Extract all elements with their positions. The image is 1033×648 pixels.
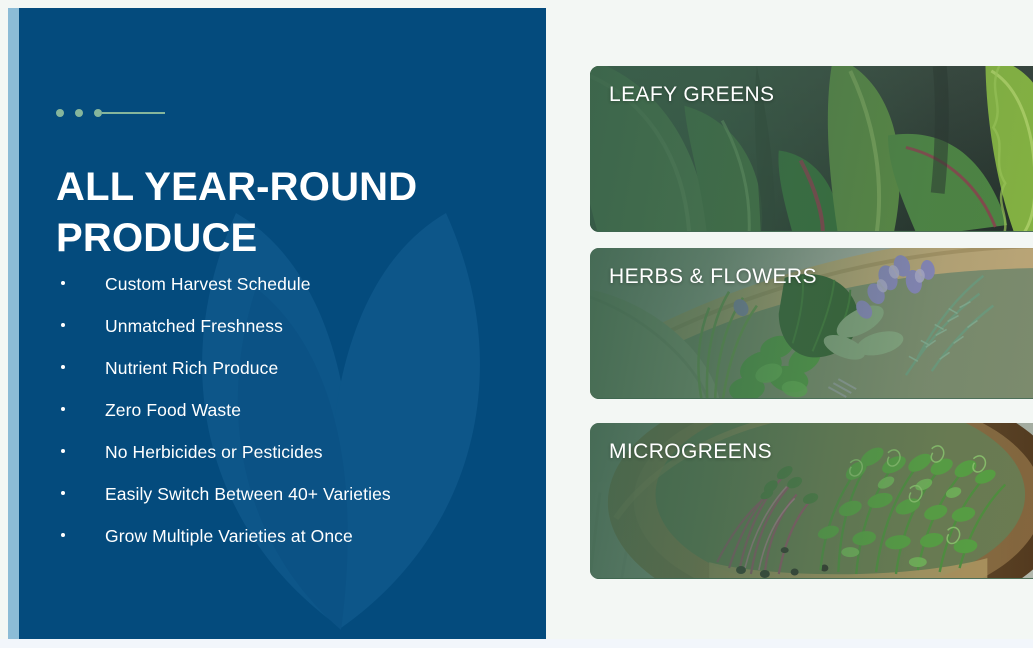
list-item-label: Nutrient Rich Produce [105,358,278,378]
panel-content: ALL YEAR-ROUND PRODUCE Custom Harvest Sc… [56,8,546,640]
bullet-dot-icon [61,449,65,453]
list-item-label: Unmatched Freshness [105,316,283,336]
bottom-strip [0,639,1033,648]
bullet-dot-icon [61,365,65,369]
list-item: Easily Switch Between 40+ Varieties [56,483,526,525]
list-item: No Herbicides or Pesticides [56,441,526,483]
page-title: ALL YEAR-ROUND PRODUCE [56,162,506,264]
content-panel: ALL YEAR-ROUND PRODUCE Custom Harvest Sc… [19,8,546,640]
list-item: Custom Harvest Schedule [56,273,526,315]
deco-line [102,112,165,114]
list-item: Grow Multiple Varieties at Once [56,525,526,567]
bullet-dot-icon [61,491,65,495]
card-leafy-greens[interactable]: LEAFY GREENS [590,66,1033,232]
slide-canvas: ALL YEAR-ROUND PRODUCE Custom Harvest Sc… [0,0,1033,648]
dot-line-decoration [56,107,165,119]
list-item: Zero Food Waste [56,399,526,441]
deco-dot-1 [56,109,64,117]
feature-list: Custom Harvest Schedule Unmatched Freshn… [56,273,526,567]
card-herbs-flowers[interactable]: HERBS & FLOWERS [590,248,1033,399]
list-item-label: Grow Multiple Varieties at Once [105,526,353,546]
list-item-label: Custom Harvest Schedule [105,274,311,294]
bullet-dot-icon [61,407,65,411]
list-item-label: Zero Food Waste [105,400,241,420]
card-label-microgreens: MICROGREENS [609,440,772,464]
card-label-herbs-flowers: HERBS & FLOWERS [609,265,817,289]
list-item: Unmatched Freshness [56,315,526,357]
list-item-label: No Herbicides or Pesticides [105,442,323,462]
list-item: Nutrient Rich Produce [56,357,526,399]
left-accent-bar [8,8,19,640]
bullet-dot-icon [61,533,65,537]
card-label-leafy-greens: LEAFY GREENS [609,83,774,107]
bullet-dot-icon [61,323,65,327]
card-microgreens[interactable]: MICROGREENS [590,423,1033,579]
deco-dot-3 [94,109,102,117]
bullet-dot-icon [61,281,65,285]
deco-dot-2 [75,109,83,117]
list-item-label: Easily Switch Between 40+ Varieties [105,484,391,504]
